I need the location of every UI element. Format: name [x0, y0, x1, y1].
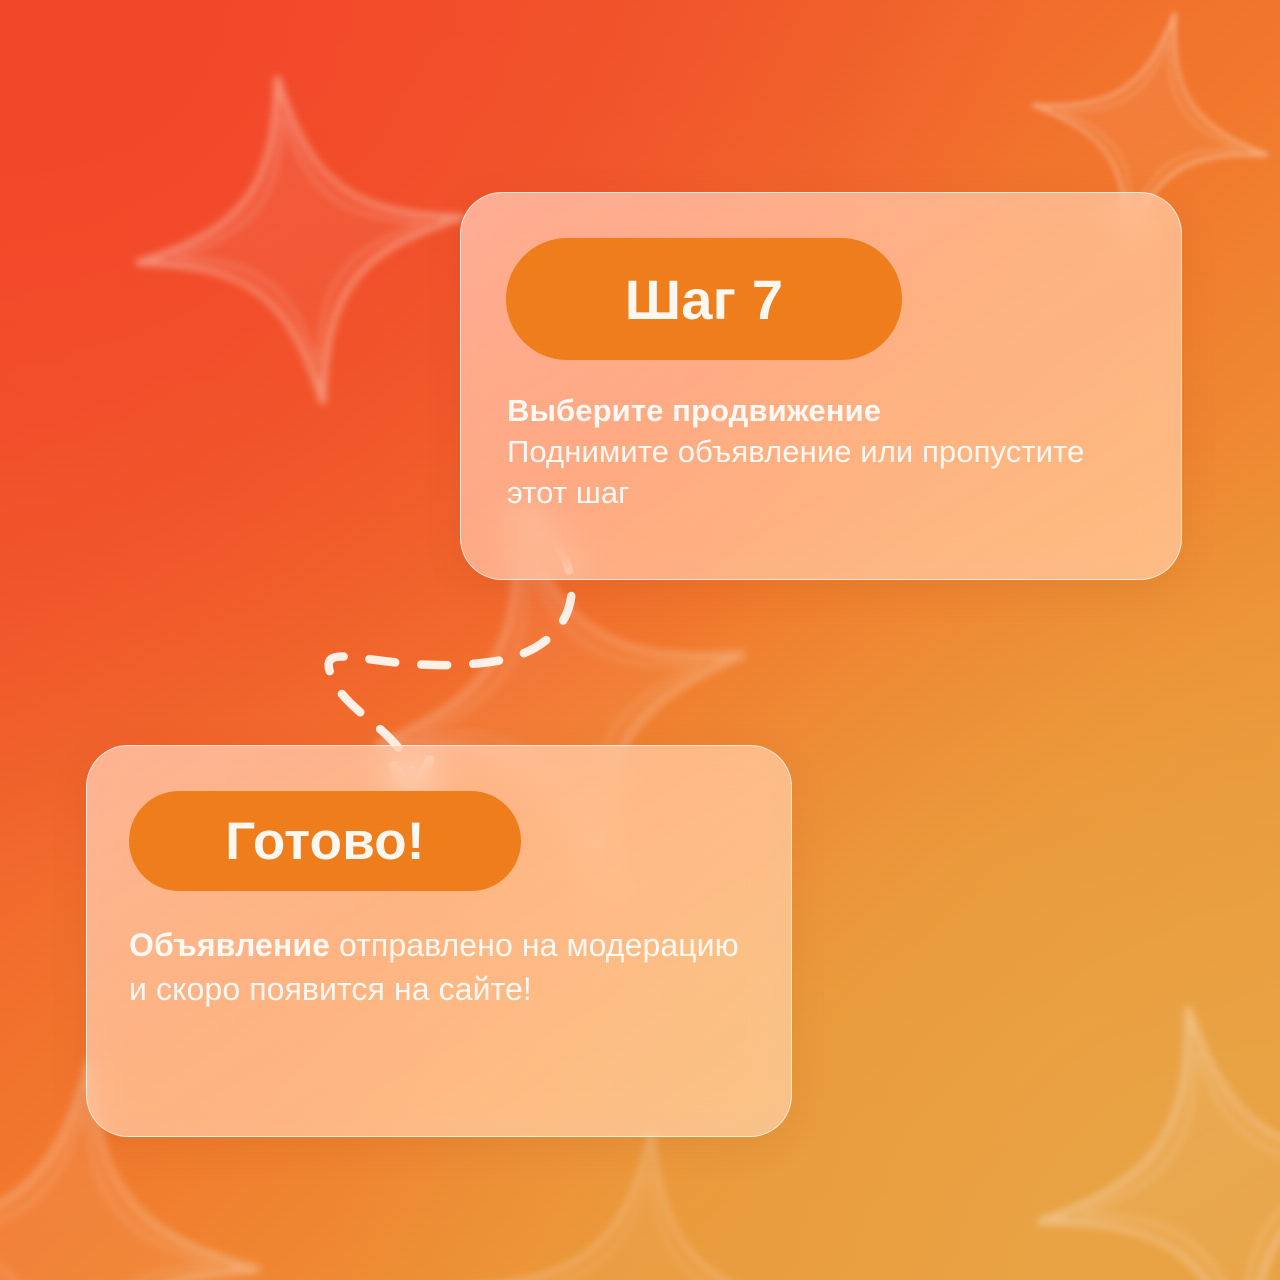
step-card: Шаг 7 Выберите продвижение Поднимите объ… [460, 192, 1182, 580]
done-card-body: Объявление отправлено на модерацию и ско… [129, 924, 749, 1011]
done-badge[interactable]: Готово! [129, 791, 521, 891]
step-card-lead: Выберите продвижение [507, 390, 1147, 431]
step-card-description: Поднимите объявление или пропустите этот… [507, 434, 1084, 510]
step-card-body: Выберите продвижение Поднимите объявлени… [507, 390, 1147, 514]
step-badge[interactable]: Шаг 7 [506, 238, 902, 360]
done-card: Готово! Объявление отправлено на модерац… [86, 745, 792, 1137]
done-card-lead: Объявление [129, 927, 330, 963]
poster-canvas: Шаг 7 Выберите продвижение Поднимите объ… [0, 0, 1280, 1280]
